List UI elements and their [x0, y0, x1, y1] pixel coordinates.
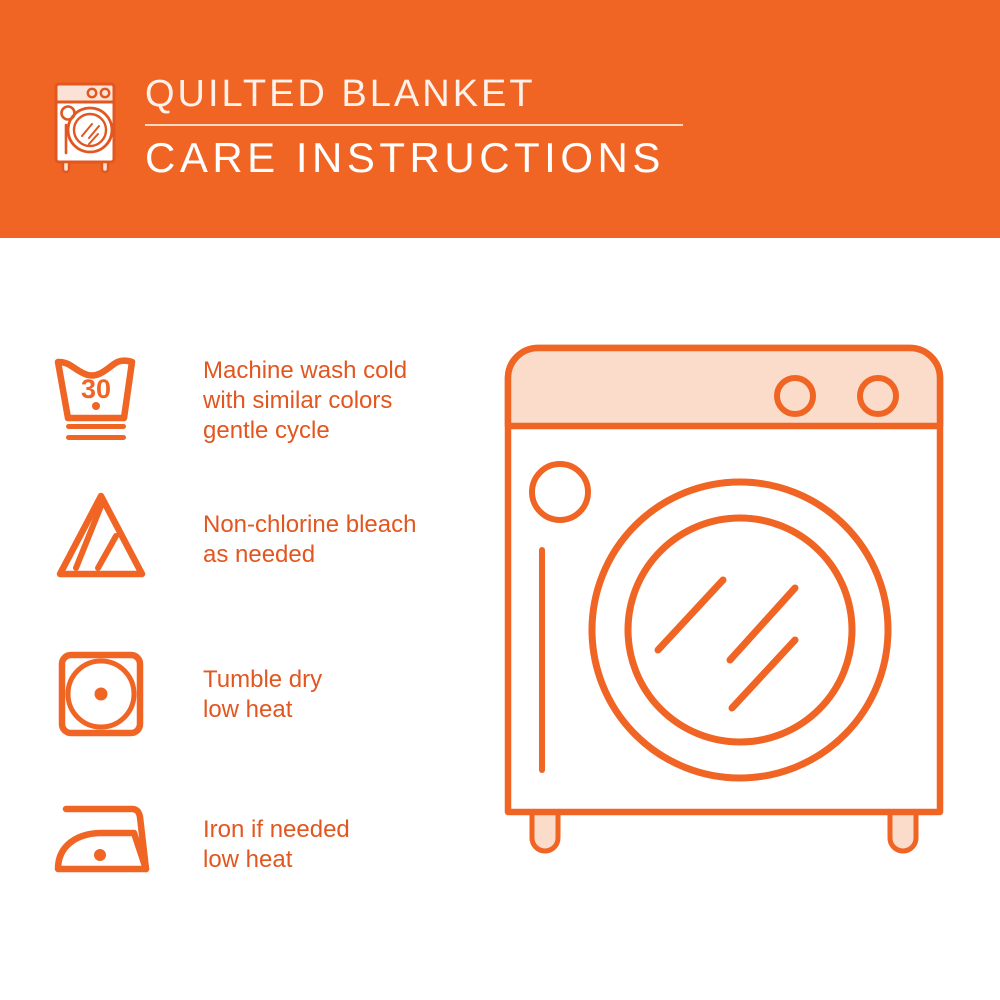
page-title-secondary: CARE INSTRUCTIONS: [145, 135, 845, 181]
wash-temperature-label: 30: [81, 374, 111, 404]
care-text-bleach: Non-chlorine bleach as needed: [203, 510, 416, 570]
tumble-dry-low-heat-icon: [50, 643, 156, 743]
wash-tub-30-gentle-icon: 30: [50, 348, 156, 448]
care-row-iron: Iron if needed low heat: [0, 793, 480, 913]
care-row-machine-wash: 30 Machine wash cold with similar colors…: [0, 348, 480, 468]
care-row-bleach: Non-chlorine bleach as needed: [0, 488, 480, 608]
iron-low-heat-icon: [50, 793, 156, 893]
care-row-tumble-dry: Tumble dry low heat: [0, 643, 480, 763]
title-divider: [145, 124, 683, 126]
care-text-tumble-dry: Tumble dry low heat: [203, 665, 322, 725]
care-text-machine-wash: Machine wash cold with similar colors ge…: [203, 356, 407, 446]
washing-machine-illustration: [490, 330, 960, 930]
care-instructions-infographic: QUILTED BLANKET CARE INSTRUCTIONS 30: [0, 0, 1000, 1000]
care-instruction-list: 30 Machine wash cold with similar colors…: [0, 238, 480, 1000]
bleach-triangle-non-chlorine-icon: [50, 488, 156, 588]
header-banner: QUILTED BLANKET CARE INSTRUCTIONS: [0, 0, 1000, 238]
header-title-group: QUILTED BLANKET CARE INSTRUCTIONS: [145, 72, 845, 181]
care-text-iron: Iron if needed low heat: [203, 815, 350, 875]
page-title-primary: QUILTED BLANKET: [145, 72, 845, 116]
washing-machine-icon: [44, 68, 128, 174]
